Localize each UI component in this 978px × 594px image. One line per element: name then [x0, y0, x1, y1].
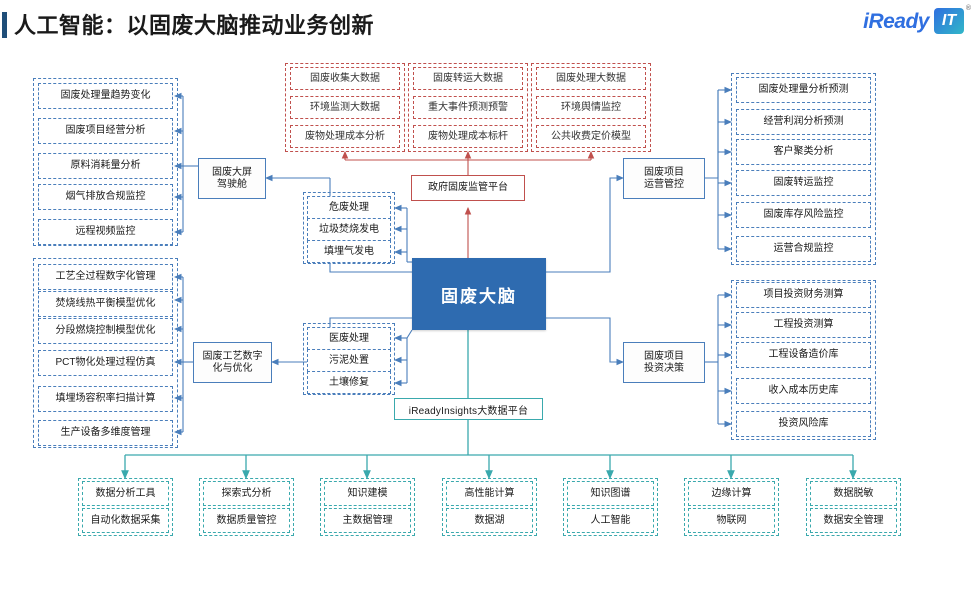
- node-right-bottom-5[interactable]: 投资风险库: [736, 411, 871, 437]
- node-gov-c1-2[interactable]: 环境监测大数据: [290, 96, 400, 119]
- pillar-process-line1: 固废工艺数字: [203, 351, 263, 363]
- node-left-top-5[interactable]: 远程视频监控: [38, 219, 173, 245]
- node-right-top-2[interactable]: 经营利润分析预测: [736, 109, 871, 135]
- node-left-bottom-2[interactable]: 焚烧线热平衡模型优化: [38, 291, 173, 317]
- pillar-project-operations[interactable]: 固废项目 运营管控: [623, 158, 705, 199]
- node-left-bottom-1[interactable]: 工艺全过程数字化管理: [38, 264, 173, 290]
- node-bottom-7-2[interactable]: 数据安全管理: [810, 508, 897, 533]
- node-bottom-5-1[interactable]: 知识图谱: [567, 481, 654, 506]
- node-bottom-3-2[interactable]: 主数据管理: [324, 508, 411, 533]
- node-right-bottom-3[interactable]: 工程设备造价库: [736, 342, 871, 368]
- node-left-top-3[interactable]: 原料消耗量分析: [38, 153, 173, 179]
- node-gov-c1-1[interactable]: 固废收集大数据: [290, 67, 400, 90]
- pillar-process-digital[interactable]: 固废工艺数字 化与优化: [193, 342, 272, 383]
- pillar-cockpit-line1: 固废大屏: [212, 167, 252, 179]
- node-center-upper-3[interactable]: 填埋气发电: [307, 240, 391, 263]
- node-gov-c3-2[interactable]: 环境舆情监控: [536, 96, 646, 119]
- pillar-ops-line1: 固废项目: [644, 167, 684, 179]
- node-center-upper-2[interactable]: 垃圾焚烧发电: [307, 218, 391, 241]
- node-gov-c2-1[interactable]: 固废转运大数据: [413, 67, 523, 90]
- node-bottom-2-1[interactable]: 探索式分析: [203, 481, 290, 506]
- node-iready-insights-platform[interactable]: iReadyInsights大数据平台: [394, 398, 543, 420]
- node-left-top-2[interactable]: 固废项目经营分析: [38, 118, 173, 144]
- title-accent-bar: [2, 12, 7, 38]
- logo-badge-text: IT: [942, 12, 956, 30]
- pillar-process-line2: 化与优化: [213, 363, 253, 375]
- node-right-top-4[interactable]: 固废转运监控: [736, 170, 871, 196]
- node-center-lower-2[interactable]: 污泥处置: [307, 349, 391, 372]
- pillar-cockpit[interactable]: 固废大屏 驾驶舱: [198, 158, 266, 199]
- node-left-top-1[interactable]: 固废处理量趋势变化: [38, 83, 173, 109]
- logo-badge-it: IT ®: [934, 8, 964, 34]
- node-right-top-1[interactable]: 固废处理量分析预测: [736, 77, 871, 103]
- node-bottom-4-2[interactable]: 数据湖: [446, 508, 533, 533]
- node-gov-c2-2[interactable]: 重大事件预测预警: [413, 96, 523, 119]
- node-center-upper-1[interactable]: 危废处理: [307, 196, 391, 219]
- pillar-project-investment[interactable]: 固废项目 投资决策: [623, 342, 705, 383]
- node-bottom-2-2[interactable]: 数据质量管控: [203, 508, 290, 533]
- node-bottom-3-1[interactable]: 知识建模: [324, 481, 411, 506]
- hub-solid-waste-brain[interactable]: 固废大脑: [412, 258, 546, 330]
- node-right-bottom-1[interactable]: 项目投资财务测算: [736, 282, 871, 308]
- pillar-invest-line2: 投资决策: [644, 363, 684, 375]
- node-bottom-6-2[interactable]: 物联网: [688, 508, 775, 533]
- node-bottom-6-1[interactable]: 边缘计算: [688, 481, 775, 506]
- node-bottom-7-1[interactable]: 数据脱敏: [810, 481, 897, 506]
- node-center-lower-3[interactable]: 土壤修复: [307, 371, 391, 394]
- node-gov-c3-3[interactable]: 公共收费定价模型: [536, 125, 646, 148]
- pillar-invest-line1: 固废项目: [644, 351, 684, 363]
- node-right-top-5[interactable]: 固废库存风险监控: [736, 202, 871, 228]
- node-left-top-4[interactable]: 烟气排放合规监控: [38, 184, 173, 210]
- node-bottom-5-2[interactable]: 人工智能: [567, 508, 654, 533]
- node-left-bottom-4[interactable]: PCT物化处理过程仿真: [38, 350, 173, 376]
- page-title: 人工智能：以固废大脑推动业务创新: [14, 8, 374, 40]
- brand-logo: iReady IT ®: [863, 8, 964, 34]
- logo-wordmark: iReady: [863, 11, 929, 32]
- node-gov-c3-1[interactable]: 固废处理大数据: [536, 67, 646, 90]
- pillar-cockpit-line2: 驾驶舱: [217, 179, 247, 191]
- node-bottom-1-2[interactable]: 自动化数据采集: [82, 508, 169, 533]
- node-right-bottom-4[interactable]: 收入成本历史库: [736, 378, 871, 404]
- registered-mark-icon: ®: [966, 5, 971, 12]
- node-bottom-4-1[interactable]: 高性能计算: [446, 481, 533, 506]
- node-center-lower-1[interactable]: 医废处理: [307, 327, 391, 350]
- node-government-platform[interactable]: 政府固废监管平台: [411, 175, 525, 201]
- node-left-bottom-5[interactable]: 填埋场容积率扫描计算: [38, 386, 173, 412]
- node-right-top-6[interactable]: 运营合规监控: [736, 236, 871, 262]
- node-gov-c2-3[interactable]: 废物处理成本标杆: [413, 125, 523, 148]
- node-right-bottom-2[interactable]: 工程投资测算: [736, 312, 871, 338]
- diagram-canvas: 人工智能：以固废大脑推动业务创新 iReady IT ®: [0, 0, 978, 594]
- node-gov-c1-3[interactable]: 废物处理成本分析: [290, 125, 400, 148]
- node-bottom-1-1[interactable]: 数据分析工具: [82, 481, 169, 506]
- node-right-top-3[interactable]: 客户聚类分析: [736, 139, 871, 165]
- node-left-bottom-6[interactable]: 生产设备多维度管理: [38, 420, 173, 446]
- pillar-ops-line2: 运营管控: [644, 179, 684, 191]
- node-left-bottom-3[interactable]: 分段燃烧控制模型优化: [38, 318, 173, 344]
